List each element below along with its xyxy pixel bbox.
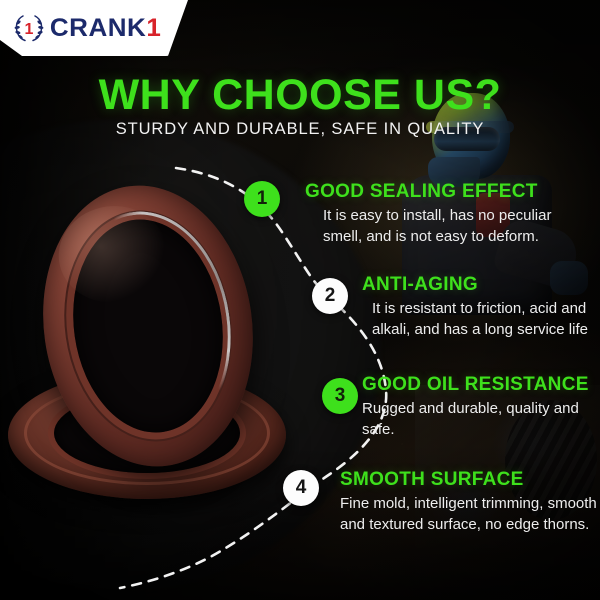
page-title: WHY CHOOSE US? <box>0 74 600 117</box>
feature-title-1: GOOD SEALING EFFECT <box>305 182 555 201</box>
feature-item-4: SMOOTH SURFACE Fine mold, intelligent tr… <box>340 470 598 535</box>
brand-wordmark: CRANK1 <box>50 16 161 41</box>
feature-body-4: Fine mold, intelligent trimming, smooth … <box>340 494 598 535</box>
feature-item-3: GOOD OIL RESISTANCE Rugged and durable, … <box>362 375 600 440</box>
feature-number-4: 4 <box>296 477 307 499</box>
feature-number-1: 1 <box>257 188 268 210</box>
brand-name-main: CRANK <box>50 14 146 42</box>
page-subtitle: STURDY AND DURABLE, SAFE IN QUALITY <box>0 120 600 139</box>
feature-body-2: It is resistant to friction, acid and al… <box>362 299 600 340</box>
emblem-number: 1 <box>25 21 34 38</box>
feature-item-1: GOOD SEALING EFFECT It is easy to instal… <box>305 182 555 247</box>
promo-banner: 1 CRANK1 WHY CHOOSE US? STURDY AND DURAB… <box>0 0 600 600</box>
feature-item-2: ANTI-AGING It is resistant to friction, … <box>362 275 600 340</box>
feature-body-1: It is easy to install, has no peculiar s… <box>305 206 555 247</box>
feature-badge-4[interactable]: 4 <box>283 470 319 506</box>
feature-badge-3[interactable]: 3 <box>322 378 358 414</box>
product-image <box>8 185 288 515</box>
feature-title-2: ANTI-AGING <box>362 275 600 294</box>
feature-badge-2[interactable]: 2 <box>312 278 348 314</box>
feature-title-4: SMOOTH SURFACE <box>340 470 598 489</box>
feature-number-3: 3 <box>335 385 346 407</box>
feature-body-3: Rugged and durable, quality and safe. <box>362 399 600 440</box>
feature-badge-1[interactable]: 1 <box>244 181 280 217</box>
feature-number-2: 2 <box>325 285 336 307</box>
feature-title-3: GOOD OIL RESISTANCE <box>362 375 600 394</box>
brand-name-accent: 1 <box>146 14 161 42</box>
brand-logo[interactable]: 1 CRANK1 <box>0 0 188 56</box>
laurel-wreath-icon: 1 <box>12 11 46 45</box>
